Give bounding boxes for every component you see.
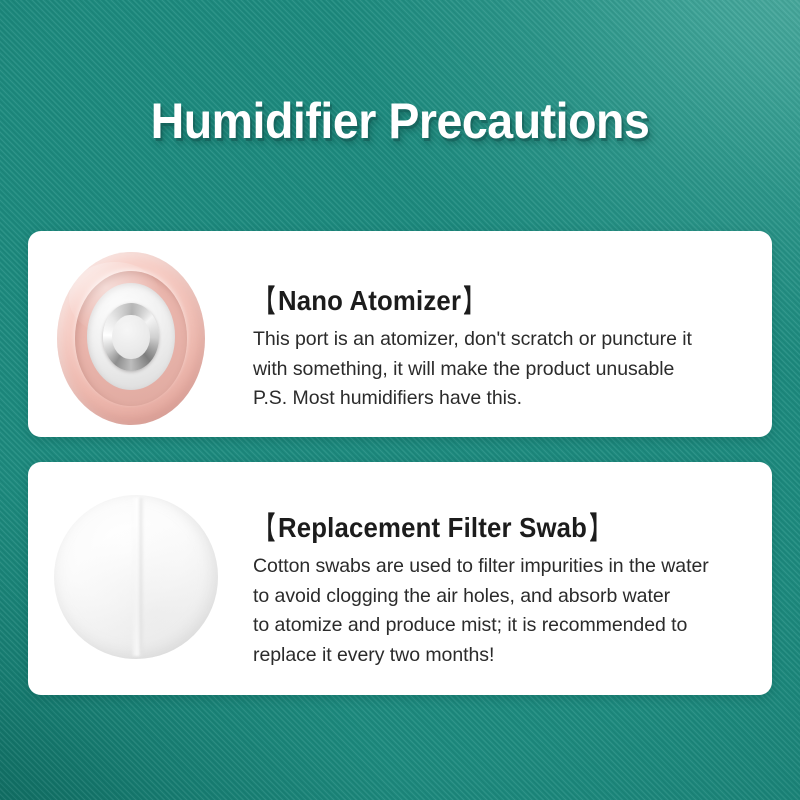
swab-image bbox=[28, 462, 252, 695]
card-heading-nano-atomizer: 【Nano Atomizer】 bbox=[252, 277, 487, 319]
bracket-left-icon: 【 bbox=[256, 277, 275, 321]
atomizer-metallic-ring bbox=[103, 303, 159, 370]
page-title: Humidifier Precautions bbox=[28, 92, 772, 150]
description-line: to atomize and produce mist; it is recom… bbox=[253, 611, 709, 641]
card-text-area: 【Replacement Filter Swab】 Cotton swabs a… bbox=[252, 462, 762, 695]
card-heading-replacement-filter-swab: 【Replacement Filter Swab】 bbox=[252, 504, 613, 546]
card-description-replacement-filter-swab: Cotton swabs are used to filter impuriti… bbox=[253, 552, 709, 670]
swab-soft-shadow bbox=[54, 495, 218, 659]
bracket-left-icon: 【 bbox=[256, 504, 275, 548]
infographic-page: Humidifier Precautions 【Nano Atomizer】 T… bbox=[0, 0, 800, 800]
description-line: to avoid clogging the air holes, and abs… bbox=[253, 582, 709, 612]
card-heading-label: Nano Atomizer bbox=[278, 285, 461, 316]
pink-atomizer-photo bbox=[57, 252, 205, 425]
card-heading-label: Replacement Filter Swab bbox=[278, 512, 587, 543]
precaution-card-replacement-filter-swab: 【Replacement Filter Swab】 Cotton swabs a… bbox=[28, 462, 772, 695]
card-description-nano-atomizer: This port is an atomizer, don't scratch … bbox=[253, 325, 692, 414]
description-line: P.S. Most humidifiers have this. bbox=[253, 384, 692, 414]
description-line: replace it every two months! bbox=[253, 641, 709, 671]
atomizer-image bbox=[28, 231, 252, 437]
white-filter-swab-photo bbox=[54, 495, 218, 659]
description-line: This port is an atomizer, don't scratch … bbox=[253, 325, 692, 355]
card-text-area: 【Nano Atomizer】 This port is an atomizer… bbox=[252, 231, 762, 437]
bracket-right-icon: 】 bbox=[590, 504, 609, 548]
bracket-right-icon: 】 bbox=[464, 277, 483, 321]
description-line: with something, it will make the product… bbox=[253, 355, 692, 385]
atomizer-center-disc bbox=[112, 315, 149, 360]
precaution-card-nano-atomizer: 【Nano Atomizer】 This port is an atomizer… bbox=[28, 231, 772, 437]
description-line: Cotton swabs are used to filter impuriti… bbox=[253, 552, 709, 582]
